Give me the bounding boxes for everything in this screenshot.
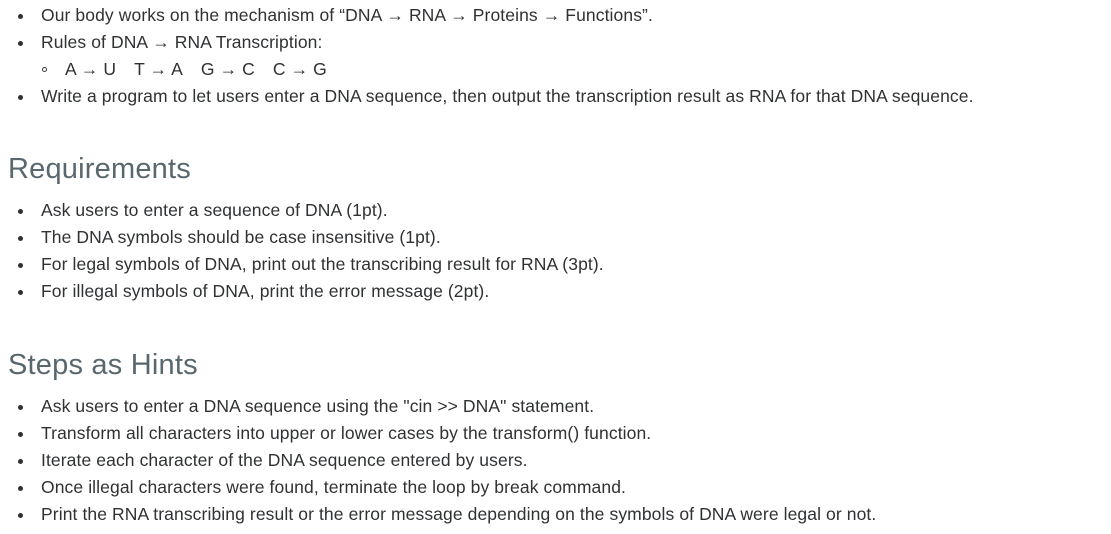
transcription-pair-g: G → C (201, 56, 255, 83)
transcription-pair-t: T → A (134, 56, 183, 83)
document-page: Our body works on the mechanism of “DNA … (0, 0, 1111, 534)
list-item: Write a program to let users enter a DNA… (10, 83, 974, 110)
list-item: Once illegal characters were found, term… (10, 474, 876, 501)
intro-bullet-list: Our body works on the mechanism of “DNA … (10, 2, 974, 110)
list-item: Ask users to enter a DNA sequence using … (10, 393, 876, 420)
list-item: Print the RNA transcribing result or the… (10, 501, 876, 528)
list-item: Our body works on the mechanism of “DNA … (10, 2, 974, 29)
transcription-pair-c: C → G (273, 56, 327, 83)
list-item: Ask users to enter a sequence of DNA (1p… (10, 197, 604, 224)
list-item: The DNA symbols should be case insensiti… (10, 224, 604, 251)
list-item: Transform all characters into upper or l… (10, 420, 876, 447)
list-item: For legal symbols of DNA, print out the … (10, 251, 604, 278)
section-heading-requirements: Requirements (8, 152, 191, 186)
steps-bullet-list: Ask users to enter a DNA sequence using … (10, 393, 876, 528)
transcription-pair-a: A → U (65, 56, 116, 83)
requirements-bullet-list: Ask users to enter a sequence of DNA (1p… (10, 197, 604, 305)
section-heading-steps: Steps as Hints (8, 348, 198, 382)
list-item: For illegal symbols of DNA, print the er… (10, 278, 604, 305)
list-item: Rules of DNA → RNA Transcription: (10, 29, 974, 56)
list-item: Iterate each character of the DNA sequen… (10, 447, 876, 474)
list-item-sub: A → UT → AG → CC → G (10, 56, 974, 83)
